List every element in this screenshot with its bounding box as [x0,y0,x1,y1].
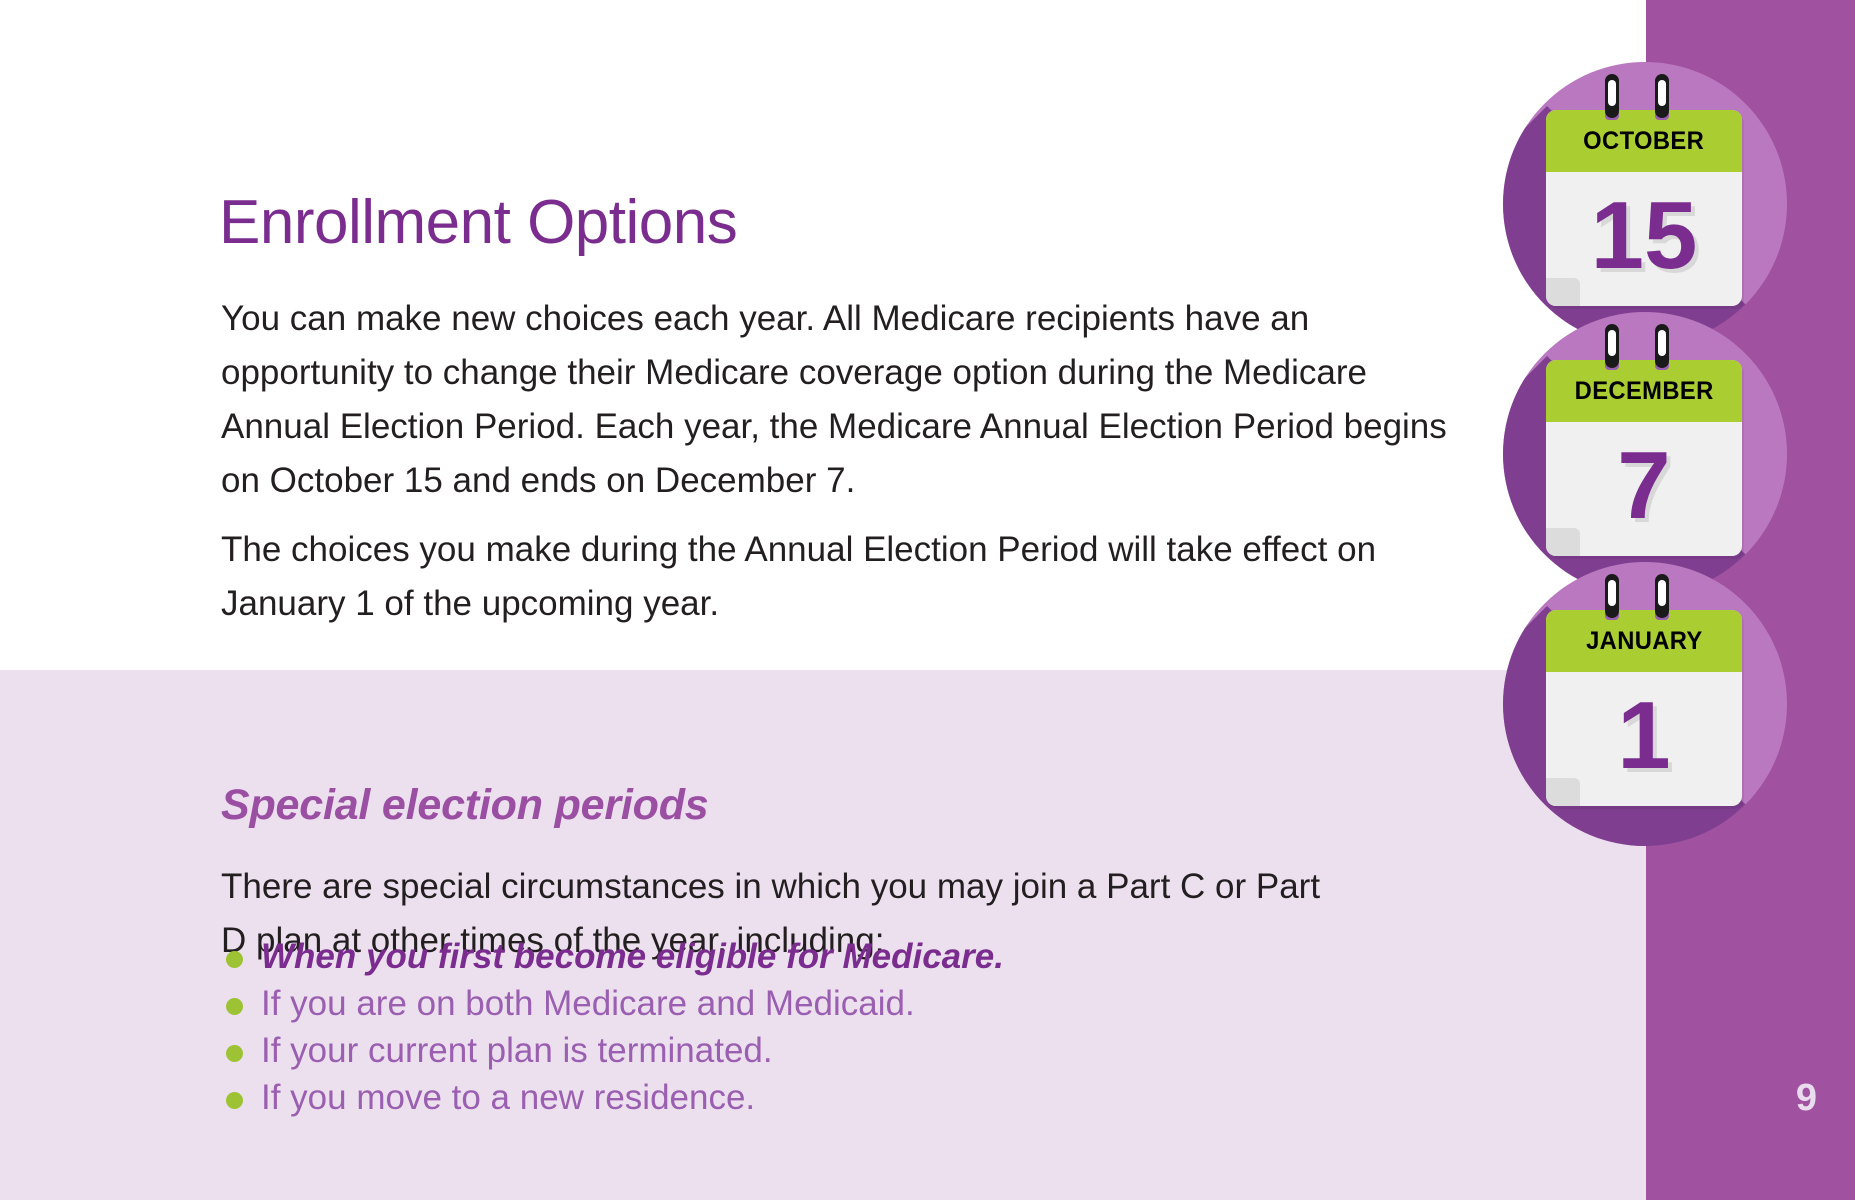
list-item: When you first become eligible for Medic… [221,933,1341,980]
list-item: If you are on both Medicare and Medicaid… [221,980,1341,1027]
calendar-ring-left-icon [1605,324,1619,368]
calendar-month-label: OCTOBER [1583,127,1704,156]
calendar-month-band: DECEMBER [1546,360,1742,422]
bullet-dot-icon [226,951,243,968]
calendar-month-label: JANUARY [1586,627,1703,656]
list-item: If your current plan is terminated. [221,1027,1341,1074]
list-item-label: If your current plan is terminated. [261,1031,773,1070]
calendar-december: DECEMBER 7 [1503,312,1787,596]
calendar-month-band: JANUARY [1546,610,1742,672]
calendar-ring-left-icon [1605,574,1619,618]
list-item-label: When you first become eligible for Medic… [261,937,1004,976]
bullet-dot-icon [226,1092,243,1109]
page-number: 9 [1796,1077,1817,1120]
calendar-month-band: OCTOBER [1546,110,1742,172]
calendar-fold-corner [1546,278,1580,306]
calendar-january: JANUARY 1 [1503,562,1787,846]
calendar-month-label: DECEMBER [1575,377,1714,406]
calendar-october: OCTOBER 15 [1503,62,1787,346]
list-item-label: If you are on both Medicare and Medicaid… [261,984,915,1023]
bullet-dot-icon [226,998,243,1015]
calendar-ring-right-icon [1655,324,1669,368]
calendar-card: DECEMBER 7 [1546,360,1742,556]
list-item-label: If you move to a new residence. [261,1078,755,1117]
calendar-card: JANUARY 1 [1546,610,1742,806]
calendar-fold-corner [1546,778,1580,806]
calendar-card: OCTOBER 15 [1546,110,1742,306]
special-circumstances-list: When you first become eligible for Medic… [221,933,1341,1121]
bullet-dot-icon [226,1045,243,1062]
page-title: Enrollment Options [219,190,737,255]
special-election-periods-heading: Special election periods [221,781,708,830]
slide-canvas: Enrollment Options You can make new choi… [0,0,1855,1200]
calendar-ring-right-icon [1655,74,1669,118]
paragraph-one: You can make new choices each year. All … [221,292,1451,508]
calendar-ring-right-icon [1655,574,1669,618]
calendar-ring-left-icon [1605,74,1619,118]
calendar-fold-corner [1546,528,1580,556]
paragraph-two: The choices you make during the Annual E… [221,523,1451,631]
list-item: If you move to a new residence. [221,1074,1341,1121]
